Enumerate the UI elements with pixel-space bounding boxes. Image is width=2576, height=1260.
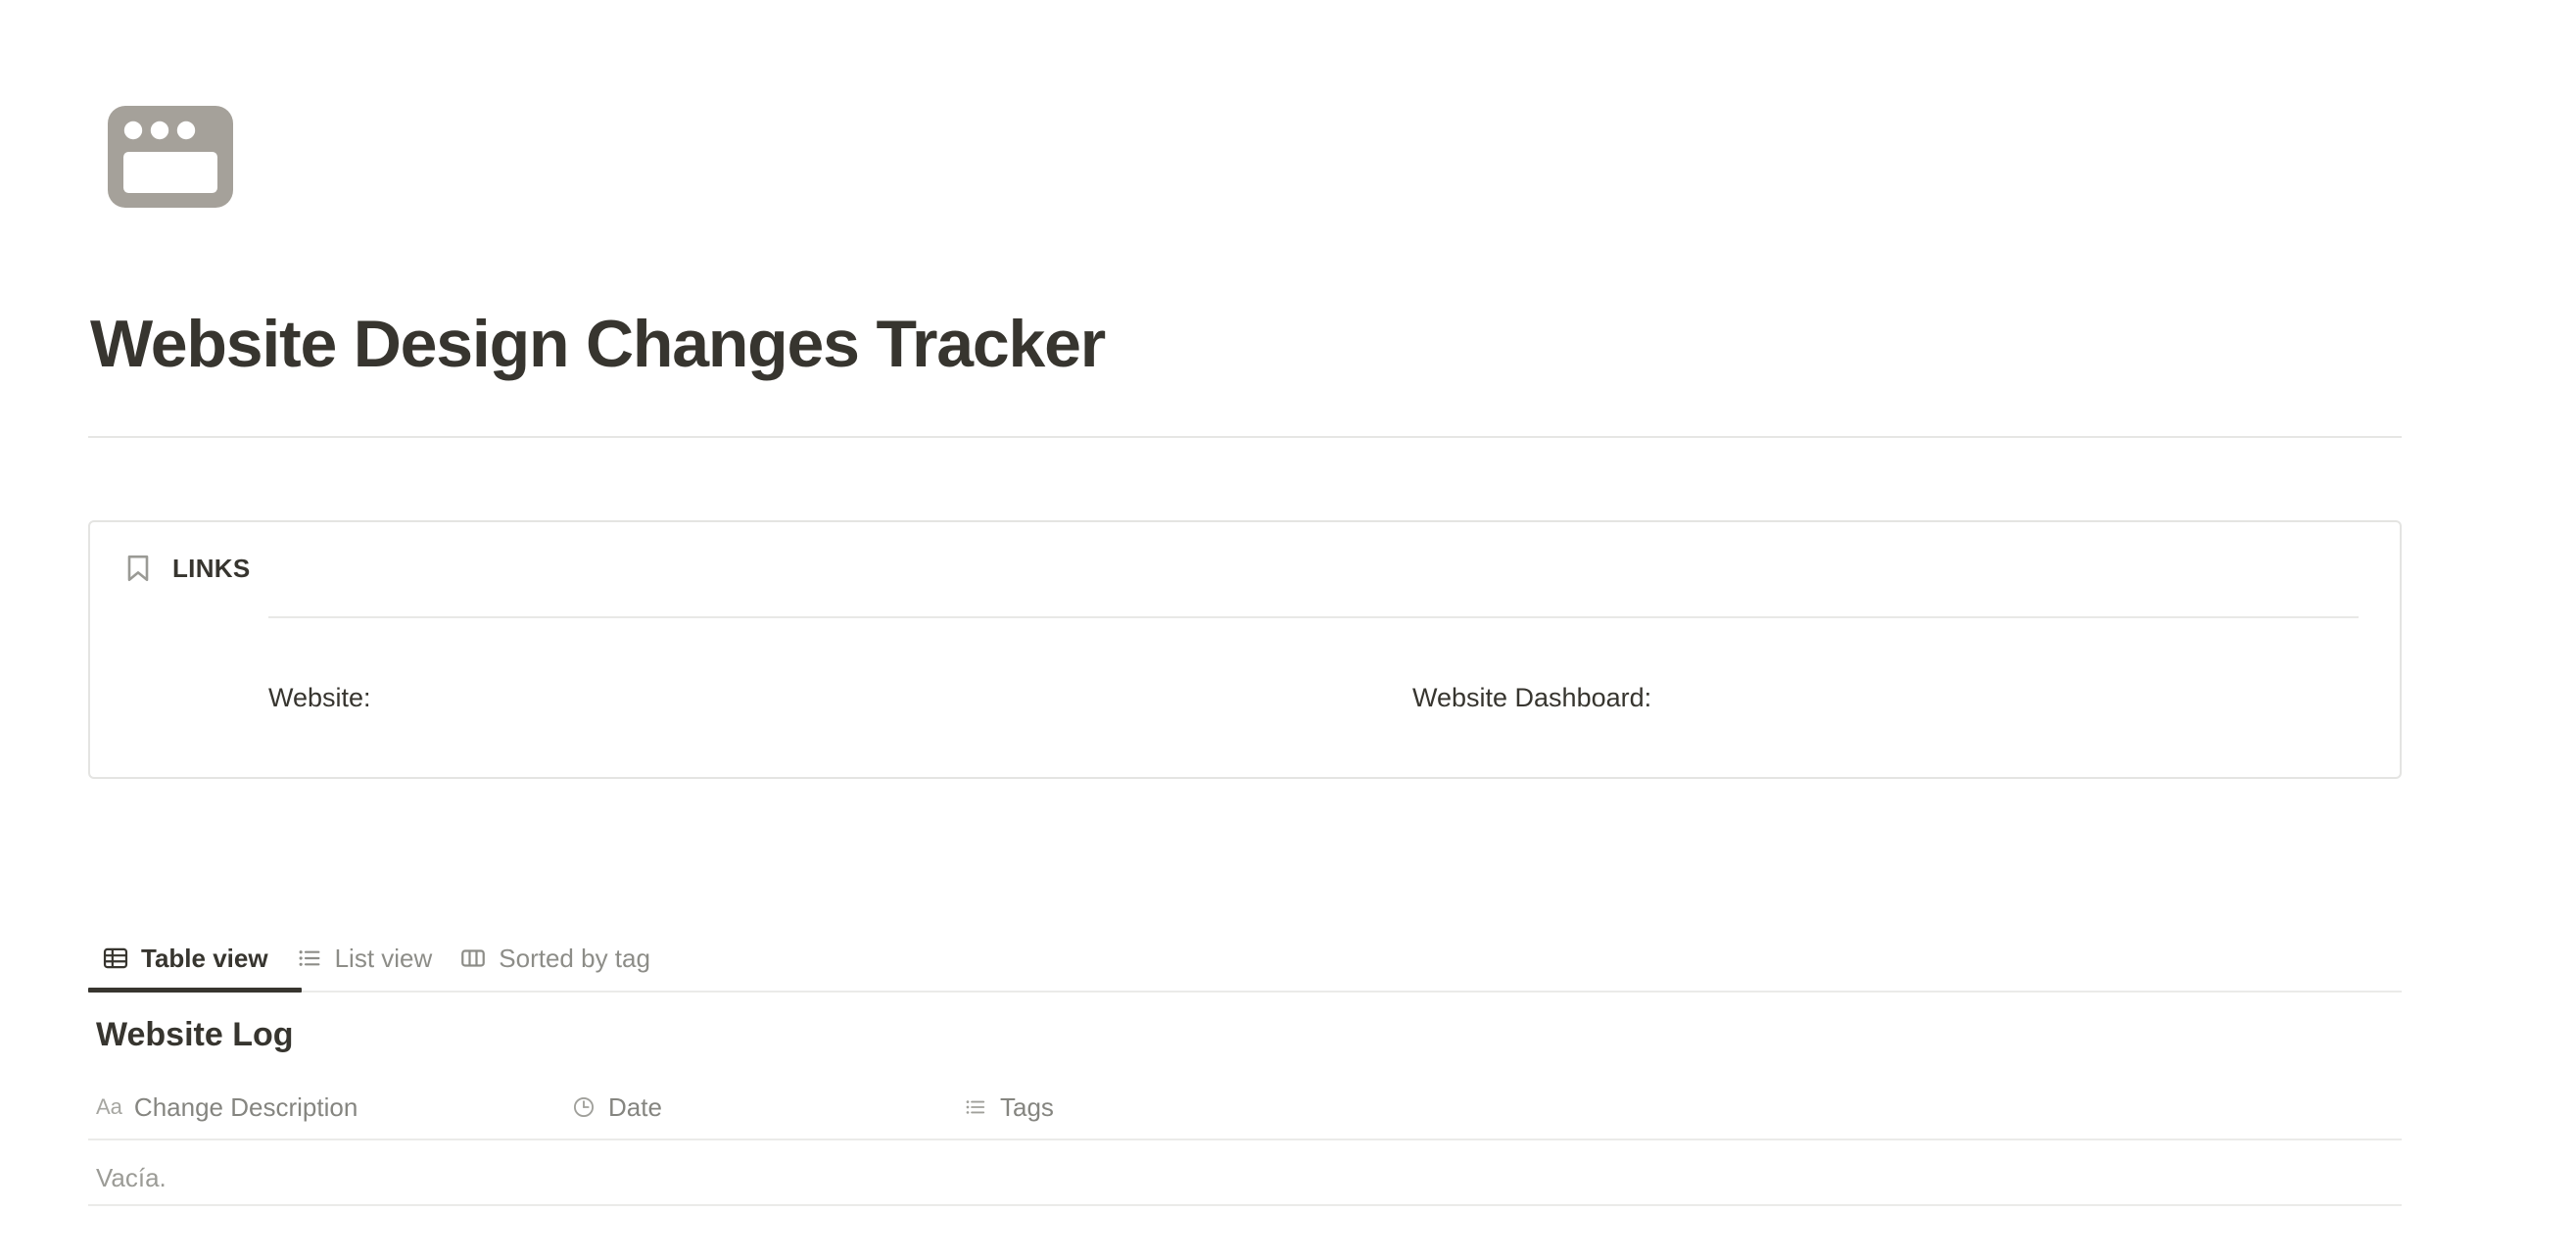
tab-table-view[interactable]: Table view [88,925,282,992]
multi-select-icon [963,1094,988,1120]
bookmark-icon [125,554,151,583]
clock-icon [571,1094,596,1120]
board-icon [459,945,487,972]
title-text-icon: Aa [96,1094,122,1120]
database-title[interactable]: Website Log [96,1014,294,1055]
links-title: LINKS [172,554,251,583]
links-divider [268,616,2359,618]
list-icon [296,945,323,972]
table-icon [102,945,129,972]
column-header-change-description[interactable]: Aa Change Description [96,1092,571,1122]
tab-list-view[interactable]: List view [282,925,447,992]
column-header-tags-label: Tags [1000,1092,1054,1122]
page-title[interactable]: Website Design Changes Tracker [90,306,1105,382]
view-tabs: Table view List view [88,925,664,992]
tabs-rule [88,991,2402,993]
active-tab-underline [88,988,302,993]
database-header-rule [88,1139,2402,1140]
column-header-date-label: Date [608,1092,662,1122]
links-callout: LINKS Website: Website Dashboard: [88,520,2402,779]
link-dashboard-label[interactable]: Website Dashboard: [1412,681,1651,714]
notion-page: Website Design Changes Tracker LINKS Web… [0,0,2576,1260]
column-header-date[interactable]: Date [571,1092,963,1122]
links-row: Website: Website Dashboard: [268,681,2394,714]
column-header-change-description-label: Change Description [134,1092,358,1122]
title-divider [88,436,2402,438]
tab-list-view-label: List view [335,945,433,972]
tab-sorted-by-tag-label: Sorted by tag [499,945,650,972]
link-website-label[interactable]: Website: [268,681,1412,714]
database-row-rule [88,1204,2402,1206]
browser-window-icon[interactable] [108,106,233,208]
tab-table-view-label: Table view [141,945,268,972]
tab-sorted-by-tag[interactable]: Sorted by tag [446,925,664,992]
links-header: LINKS [125,554,251,583]
database-header-row: Aa Change Description Date [96,1085,2402,1130]
database-empty-state[interactable]: Vacía. [96,1162,167,1193]
column-header-tags[interactable]: Tags [963,1092,1054,1122]
